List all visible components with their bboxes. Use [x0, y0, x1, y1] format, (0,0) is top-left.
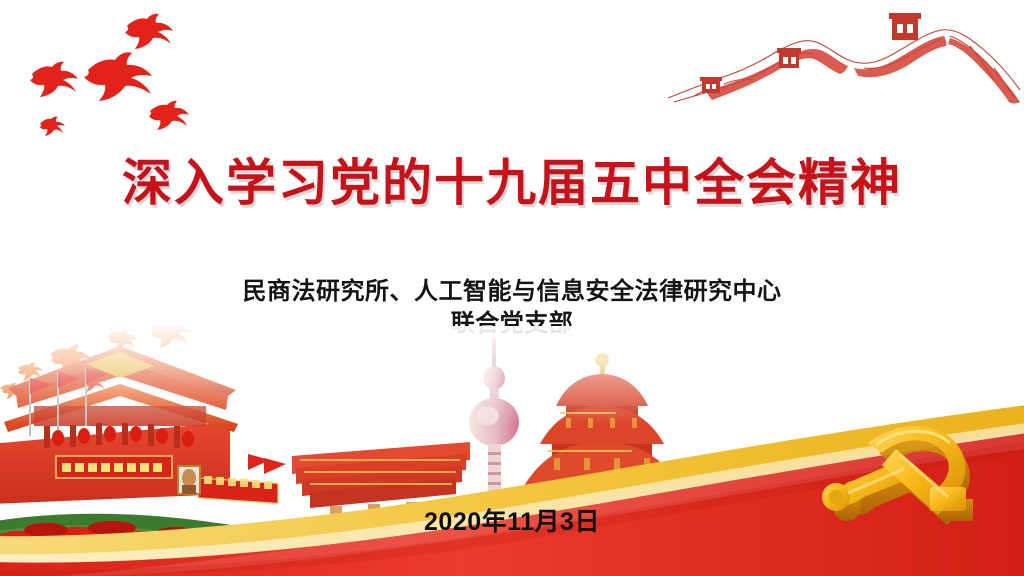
- hammer-sickle-emblem-icon: [808, 419, 1018, 554]
- subtitle-line-1: 民商法研究所、人工智能与信息安全法律研究中心: [0, 276, 1024, 308]
- page-title: 深入学习党的十九届五中全会精神: [0, 155, 1024, 213]
- presentation-slide: 深入学习党的十九届五中全会精神 民商法研究所、人工智能与信息安全法律研究中心 联…: [0, 0, 1024, 576]
- title-block: 深入学习党的十九届五中全会精神: [0, 155, 1024, 213]
- peace-doves-icon: [0, 8, 220, 148]
- great-wall-icon: [664, 6, 1024, 116]
